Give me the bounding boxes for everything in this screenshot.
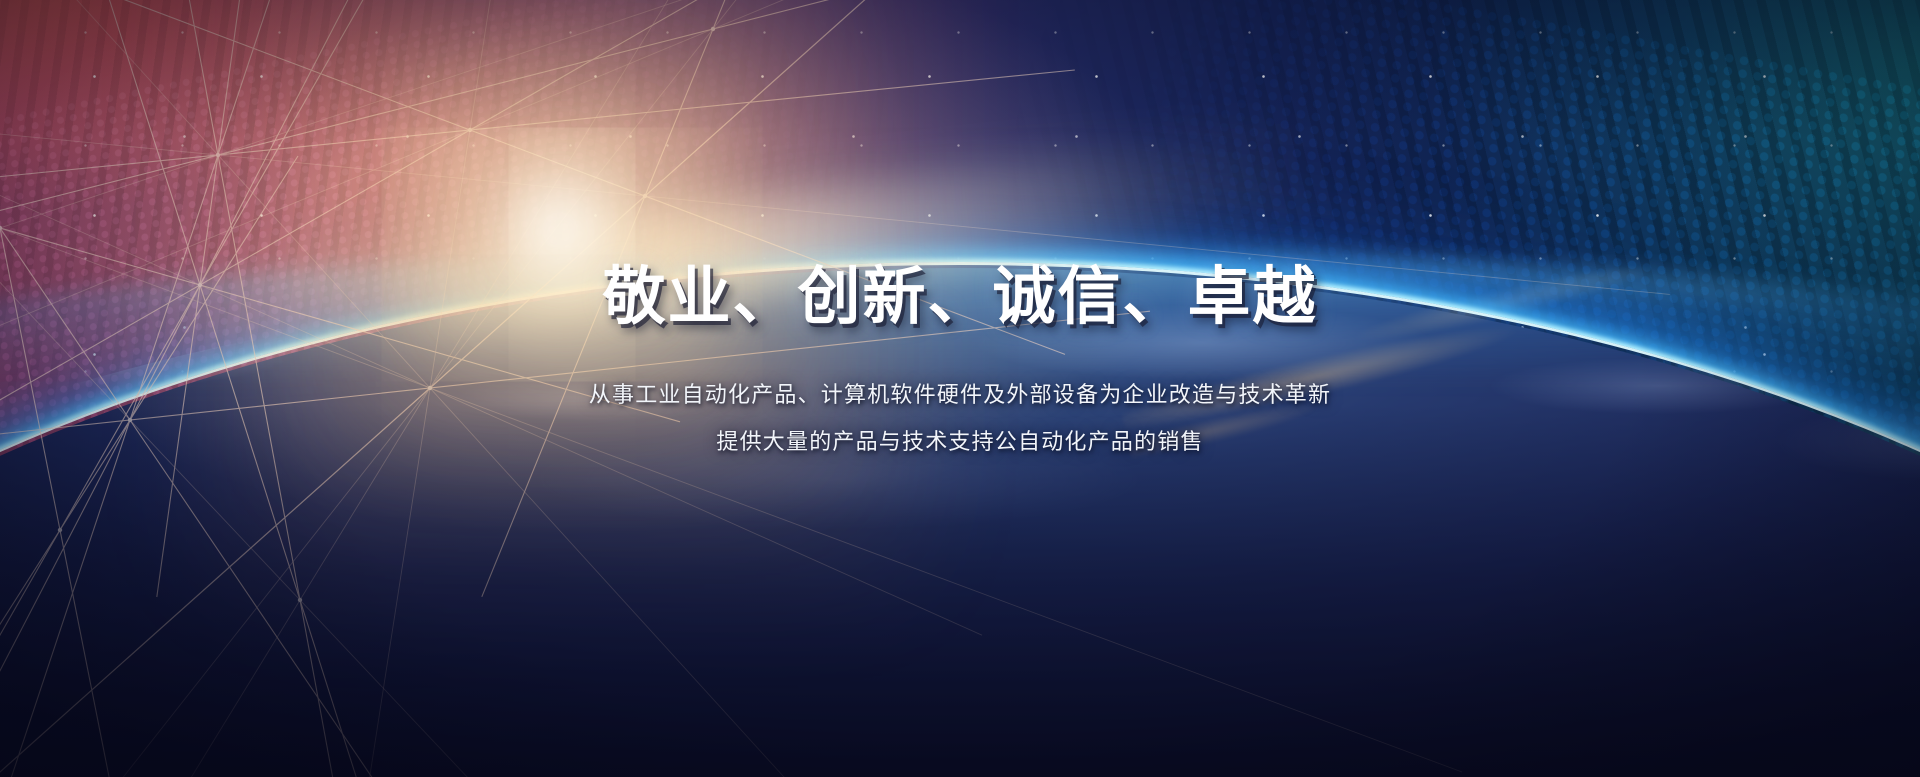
hero-banner: 敬业、创新、诚信、卓越 从事工业自动化产品、计算机软件硬件及外部设备为企业改造与… <box>0 0 1920 777</box>
banner-subtitle-line-1: 从事工业自动化产品、计算机软件硬件及外部设备为企业改造与技术革新 <box>0 377 1920 409</box>
banner-subtitle-line-2: 提供大量的产品与技术支持公自动化产品的销售 <box>0 424 1920 456</box>
banner-copy-block: 敬业、创新、诚信、卓越 从事工业自动化产品、计算机软件硬件及外部设备为企业改造与… <box>0 262 1920 456</box>
banner-headline: 敬业、创新、诚信、卓越 <box>0 262 1920 333</box>
